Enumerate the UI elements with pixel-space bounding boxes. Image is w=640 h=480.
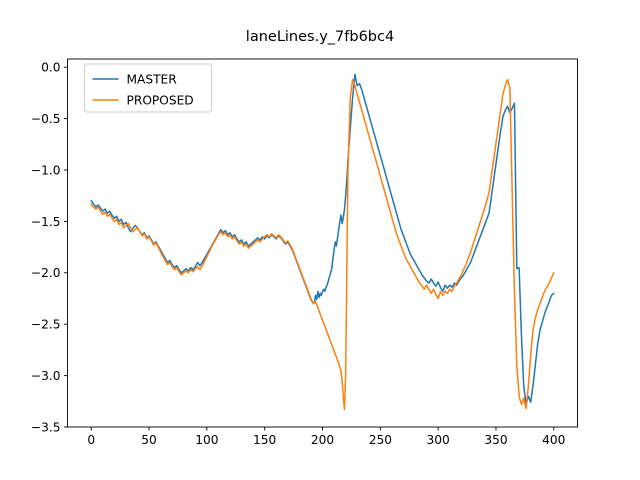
y-tick-label: −0.5 [31,112,61,126]
y-tick-label: −1.5 [31,215,61,229]
y-tick-label: −2.0 [31,266,61,280]
data-lines [91,74,554,409]
y-tick-label: −2.5 [31,318,61,332]
x-axis-ticks: 050100150200250300350400 [87,427,565,447]
x-tick-label: 300 [427,433,450,447]
x-tick-label: 50 [141,433,157,447]
y-tick-label: −1.0 [31,163,61,177]
series-line-proposed [91,80,554,410]
legend-label-proposed: PROPOSED [127,93,194,107]
x-tick-label: 0 [87,433,95,447]
axes-frame [68,59,578,427]
x-tick-label: 350 [484,433,507,447]
x-tick-label: 150 [253,433,276,447]
figure-canvas: laneLines.y_7fb6bc4 05010015020025030035… [0,0,640,480]
x-tick-label: 250 [369,433,392,447]
x-tick-label: 100 [195,433,218,447]
legend-label-master: MASTER [127,72,178,86]
y-tick-label: −3.0 [31,369,61,383]
x-tick-label: 200 [311,433,334,447]
plot-area: 050100150200250300350400 0.0−0.5−1.0−1.5… [0,0,640,480]
legend: MASTERPROPOSED [85,64,212,112]
y-tick-label: −3.5 [31,420,61,434]
x-tick-label: 400 [542,433,565,447]
y-axis-ticks: 0.0−0.5−1.0−1.5−2.0−2.5−3.0−3.5 [31,61,68,435]
series-line-master [91,74,554,404]
y-tick-label: 0.0 [41,61,60,75]
